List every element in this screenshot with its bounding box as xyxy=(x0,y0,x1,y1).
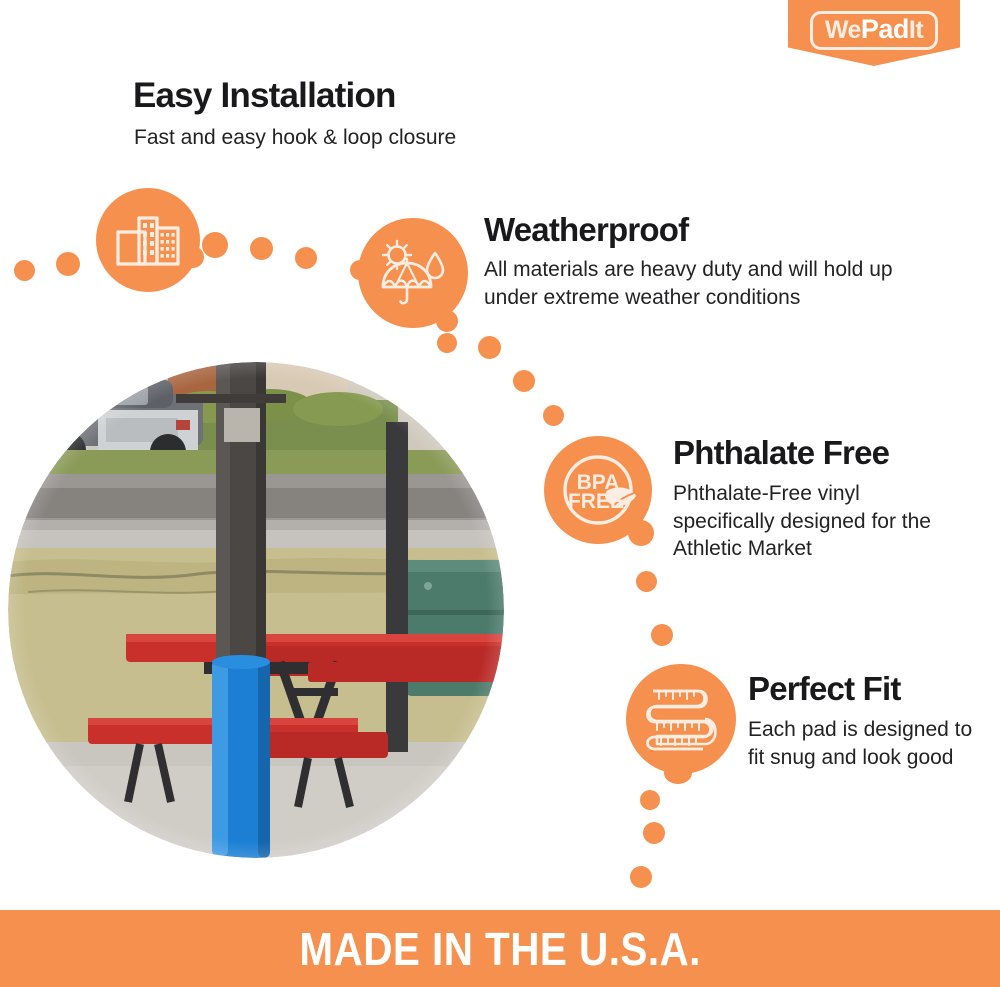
feature-description-perfect-fit: Each pad is designed to fit snug and loo… xyxy=(748,716,978,771)
feature-description-easy-installation: Fast and easy hook & loop closure xyxy=(134,124,654,152)
path-dot xyxy=(295,247,317,269)
feature-icon-phthalate-free: BPA FREE xyxy=(544,436,652,544)
brand-logo-text: WePadIt xyxy=(825,16,923,44)
brand-logo-we: We xyxy=(825,16,861,44)
decorative-blob xyxy=(664,762,692,784)
path-dot xyxy=(640,790,660,810)
path-dot xyxy=(636,571,657,592)
brand-logo-pad: Pad xyxy=(861,14,909,44)
brand-logo-badge[interactable]: WePadIt xyxy=(788,0,960,66)
path-dot xyxy=(478,336,501,359)
path-dot xyxy=(250,237,273,260)
feature-icon-perfect-fit xyxy=(626,664,736,774)
feature-title-perfect-fit: Perfect Fit xyxy=(748,672,901,707)
feature-icon-weatherproof xyxy=(358,218,468,328)
path-dot xyxy=(56,252,80,276)
path-dot xyxy=(437,333,457,353)
path-dot xyxy=(630,866,652,888)
path-dot xyxy=(513,370,535,392)
feature-title-easy-installation: Easy Installation xyxy=(133,78,396,115)
path-dot xyxy=(543,405,564,426)
decorative-blob xyxy=(350,260,370,280)
decorative-blob xyxy=(628,520,654,546)
bpa-label-line2: FREE xyxy=(568,490,624,513)
feature-icon-easy-installation xyxy=(96,188,200,292)
brand-logo-it: It xyxy=(909,16,923,44)
brand-logo-plate: WePadIt xyxy=(810,11,938,50)
path-dot xyxy=(651,624,673,646)
feature-title-weatherproof: Weatherproof xyxy=(484,213,688,248)
infographic-page: WePadIt Easy Installation Fast and easy … xyxy=(0,0,1000,987)
path-dot xyxy=(643,822,665,844)
feature-title-phthalate-free: Phthalate Free xyxy=(673,436,889,471)
feature-description-weatherproof: All materials are heavy duty and will ho… xyxy=(484,256,914,311)
path-dot xyxy=(202,232,228,258)
path-dot xyxy=(14,260,35,281)
made-in-usa-banner: MADE IN THE U.S.A. xyxy=(0,910,1000,987)
decorative-blob xyxy=(436,310,458,332)
product-photo xyxy=(8,362,504,858)
feature-description-phthalate-free: Phthalate-Free vinyl specifically design… xyxy=(673,480,953,563)
made-in-usa-text: MADE IN THE U.S.A. xyxy=(299,922,701,976)
decorative-blob xyxy=(182,246,204,268)
